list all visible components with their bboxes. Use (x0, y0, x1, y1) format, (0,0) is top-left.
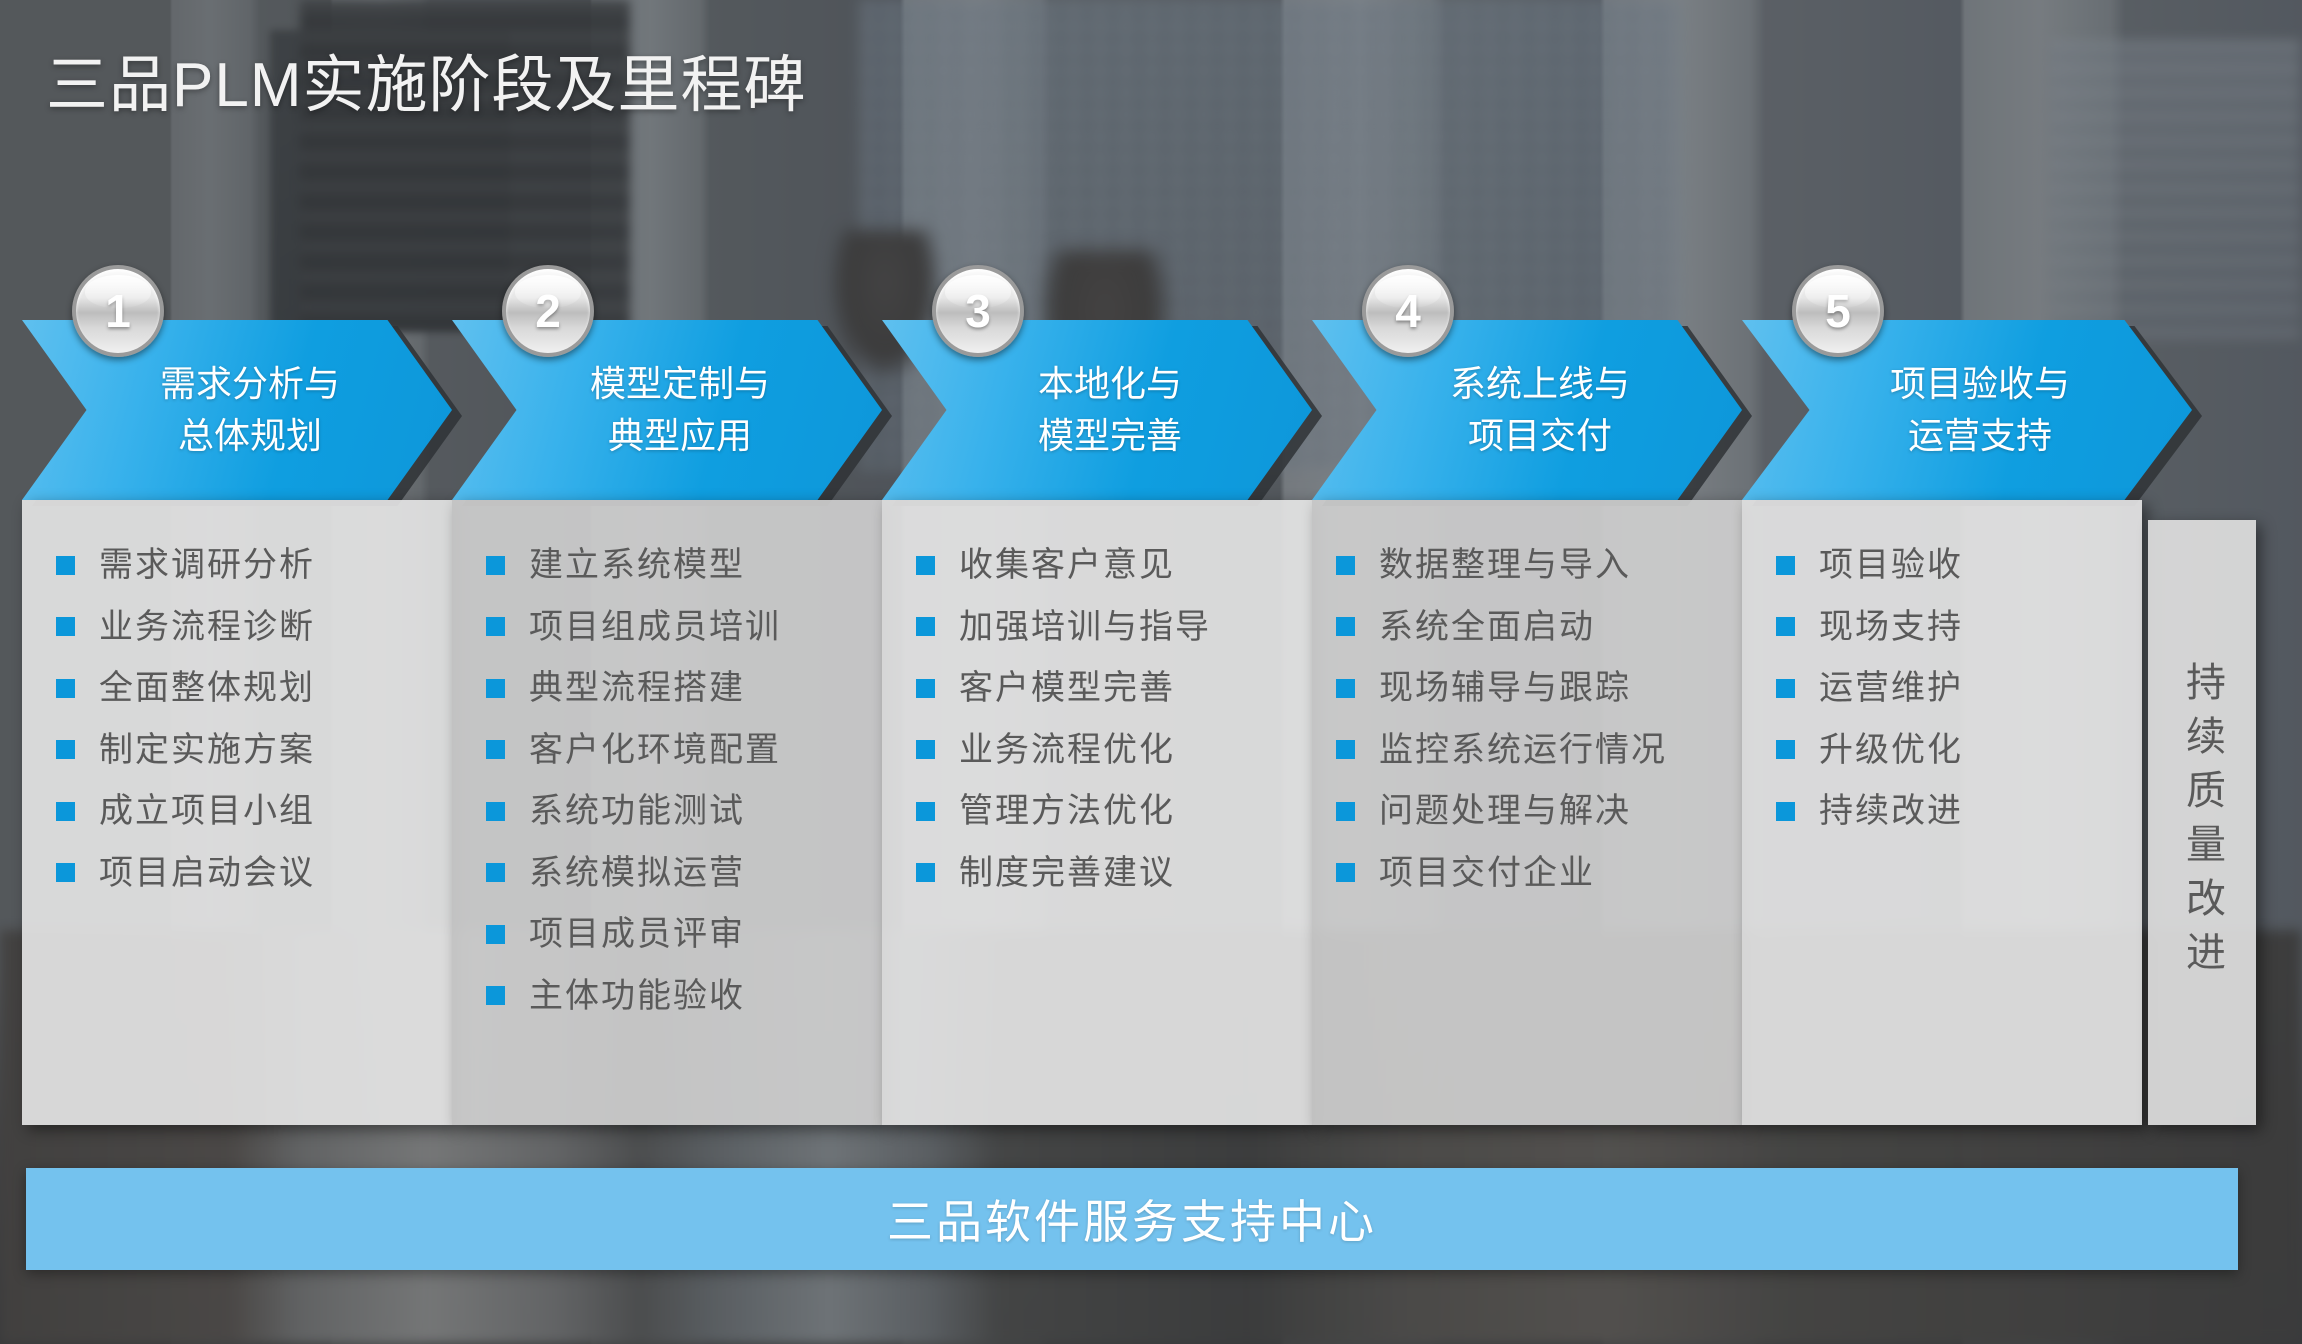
list-item[interactable]: 数据整理与导入 (1336, 544, 1732, 587)
list-item-label: 现场支持 (1819, 606, 1963, 649)
stage-panel-4: 数据整理与导入 系统全面启动 现场辅导与跟踪 监控系统运行情况 问题处理与解决 … (1312, 500, 1742, 1125)
stage-number-badge-4: 4 (1362, 265, 1454, 357)
list-item-label: 数据整理与导入 (1379, 544, 1631, 587)
bullet-square-icon (486, 802, 505, 821)
list-item-label: 持续改进 (1819, 790, 1963, 833)
list-item[interactable]: 系统模拟运营 (486, 852, 872, 895)
list-item[interactable]: 客户化环境配置 (486, 729, 872, 772)
list-item[interactable]: 成立项目小组 (56, 790, 442, 833)
stage-bullet-list-2: 建立系统模型 项目组成员培训 典型流程搭建 客户化环境配置 系统功能测试 系统模… (452, 544, 882, 1017)
list-item-label: 监控系统运行情况 (1379, 729, 1667, 772)
list-item[interactable]: 问题处理与解决 (1336, 790, 1732, 833)
stage-panel-1: 需求调研分析 业务流程诊断 全面整体规划 制定实施方案 成立项目小组 项目启动会… (22, 500, 452, 1125)
support-center-bar[interactable]: 三品软件服务支持中心 (26, 1168, 2238, 1270)
list-item-label: 项目启动会议 (99, 852, 315, 895)
list-item-label: 问题处理与解决 (1379, 790, 1631, 833)
list-item-label: 客户化环境配置 (529, 729, 781, 772)
list-item[interactable]: 业务流程诊断 (56, 606, 442, 649)
list-item-label: 运营维护 (1819, 667, 1963, 710)
bullet-square-icon (916, 679, 935, 698)
bullet-square-icon (1776, 556, 1795, 575)
page-title: 三品PLM实施阶段及里程碑 (46, 52, 806, 120)
stage-bullet-list-1: 需求调研分析 业务流程诊断 全面整体规划 制定实施方案 成立项目小组 项目启动会… (22, 544, 452, 894)
list-item[interactable]: 项目验收 (1776, 544, 2132, 587)
list-item-label: 管理方法优化 (959, 790, 1175, 833)
continuous-improvement-panel: 持续质量改进 (2148, 520, 2256, 1125)
list-item-label: 项目验收 (1819, 544, 1963, 587)
stage-number-badge-3: 3 (932, 265, 1024, 357)
list-item[interactable]: 运营维护 (1776, 667, 2132, 710)
list-item-label: 项目交付企业 (1379, 852, 1595, 895)
list-item[interactable]: 项目组成员培训 (486, 606, 872, 649)
stage-arrow-header-2[interactable]: 模型定制与 典型应用 2 (452, 320, 882, 500)
stage-number-badge-5: 5 (1792, 265, 1884, 357)
bullet-square-icon (486, 925, 505, 944)
list-item-label: 项目成员评审 (529, 913, 745, 956)
list-item-label: 制度完善建议 (959, 852, 1175, 895)
list-item-label: 系统全面启动 (1379, 606, 1595, 649)
list-item[interactable]: 项目成员评审 (486, 913, 872, 956)
list-item[interactable]: 典型流程搭建 (486, 667, 872, 710)
list-item[interactable]: 持续改进 (1776, 790, 2132, 833)
list-item[interactable]: 项目启动会议 (56, 852, 442, 895)
list-item[interactable]: 业务流程优化 (916, 729, 1302, 772)
bullet-square-icon (916, 740, 935, 759)
stage-column-2: 模型定制与 典型应用 2 建立系统模型 项目组成员培训 典型流程搭建 客户化环境… (452, 320, 882, 1125)
list-item-label: 项目组成员培训 (529, 606, 781, 649)
list-item-label: 制定实施方案 (99, 729, 315, 772)
arrow-shape (452, 320, 882, 500)
bullet-square-icon (1776, 740, 1795, 759)
list-item[interactable]: 制定实施方案 (56, 729, 442, 772)
stage-number-badge-1: 1 (72, 265, 164, 357)
stage-arrow-header-4[interactable]: 系统上线与 项目交付 4 (1312, 320, 1742, 500)
bullet-square-icon (56, 802, 75, 821)
stage-panel-5: 项目验收 现场支持 运营维护 升级优化 持续改进 (1742, 500, 2142, 1125)
list-item[interactable]: 系统全面启动 (1336, 606, 1732, 649)
list-item[interactable]: 制度完善建议 (916, 852, 1302, 895)
stage-column-3: 本地化与 模型完善 3 收集客户意见 加强培训与指导 客户模型完善 业务流程优化… (882, 320, 1312, 1125)
presentation-slide: 三品PLM实施阶段及里程碑 需求分析与 总体规划 1 需求调研分析 业务流程诊断… (0, 0, 2302, 1344)
list-item-label: 系统功能测试 (529, 790, 745, 833)
list-item[interactable]: 主体功能验收 (486, 975, 872, 1018)
bullet-square-icon (1336, 556, 1355, 575)
bullet-square-icon (916, 617, 935, 636)
list-item-label: 主体功能验收 (529, 975, 745, 1018)
list-item[interactable]: 系统功能测试 (486, 790, 872, 833)
bullet-square-icon (486, 986, 505, 1005)
arrow-shape (1312, 320, 1742, 500)
bullet-square-icon (486, 679, 505, 698)
stage-arrow-header-3[interactable]: 本地化与 模型完善 3 (882, 320, 1312, 500)
stage-bullet-list-3: 收集客户意见 加强培训与指导 客户模型完善 业务流程优化 管理方法优化 制度完善… (882, 544, 1312, 894)
bullet-square-icon (56, 863, 75, 882)
list-item-label: 加强培训与指导 (959, 606, 1211, 649)
stage-arrow-header-1[interactable]: 需求分析与 总体规划 1 (22, 320, 452, 500)
list-item-label: 成立项目小组 (99, 790, 315, 833)
arrow-shape (882, 320, 1312, 500)
list-item[interactable]: 收集客户意见 (916, 544, 1302, 587)
list-item-label: 系统模拟运营 (529, 852, 745, 895)
stage-column-5: 项目验收与 运营支持 5 项目验收 现场支持 运营维护 升级优化 持续改进 (1742, 320, 2192, 1125)
list-item-label: 升级优化 (1819, 729, 1963, 772)
list-item-label: 现场辅导与跟踪 (1379, 667, 1631, 710)
bullet-square-icon (916, 863, 935, 882)
bullet-square-icon (1776, 617, 1795, 636)
bullet-square-icon (916, 556, 935, 575)
bullet-square-icon (1336, 679, 1355, 698)
list-item[interactable]: 升级优化 (1776, 729, 2132, 772)
bullet-square-icon (1336, 740, 1355, 759)
stage-column-1: 需求分析与 总体规划 1 需求调研分析 业务流程诊断 全面整体规划 制定实施方案… (22, 320, 452, 1125)
support-center-label: 三品软件服务支持中心 (887, 1186, 1377, 1252)
bullet-square-icon (56, 740, 75, 759)
stage-bullet-list-4: 数据整理与导入 系统全面启动 现场辅导与跟踪 监控系统运行情况 问题处理与解决 … (1312, 544, 1742, 894)
list-item-label: 业务流程优化 (959, 729, 1175, 772)
arrow-shape (22, 320, 452, 500)
bullet-square-icon (1776, 679, 1795, 698)
bullet-square-icon (56, 556, 75, 575)
list-item[interactable]: 建立系统模型 (486, 544, 872, 587)
list-item-label: 全面整体规划 (99, 667, 315, 710)
list-item[interactable]: 全面整体规划 (56, 667, 442, 710)
bullet-square-icon (1336, 617, 1355, 636)
list-item[interactable]: 现场支持 (1776, 606, 2132, 649)
bullet-square-icon (1776, 802, 1795, 821)
stage-panel-3: 收集客户意见 加强培训与指导 客户模型完善 业务流程优化 管理方法优化 制度完善… (882, 500, 1312, 1125)
bullet-square-icon (56, 679, 75, 698)
bullet-square-icon (916, 802, 935, 821)
list-item[interactable]: 客户模型完善 (916, 667, 1302, 710)
list-item[interactable]: 需求调研分析 (56, 544, 442, 587)
stage-arrow-header-5[interactable]: 项目验收与 运营支持 5 (1742, 320, 2192, 500)
stage-panel-2: 建立系统模型 项目组成员培训 典型流程搭建 客户化环境配置 系统功能测试 系统模… (452, 500, 882, 1125)
list-item[interactable]: 监控系统运行情况 (1336, 729, 1732, 772)
list-item[interactable]: 项目交付企业 (1336, 852, 1732, 895)
list-item-label: 建立系统模型 (529, 544, 745, 587)
list-item[interactable]: 加强培训与指导 (916, 606, 1302, 649)
bullet-square-icon (486, 617, 505, 636)
bullet-square-icon (486, 556, 505, 575)
list-item-label: 典型流程搭建 (529, 667, 745, 710)
continuous-improvement-label: 持续质量改进 (2182, 661, 2222, 985)
bullet-square-icon (56, 617, 75, 636)
list-item[interactable]: 现场辅导与跟踪 (1336, 667, 1732, 710)
stage-number-badge-2: 2 (502, 265, 594, 357)
bullet-square-icon (1336, 863, 1355, 882)
list-item-label: 业务流程诊断 (99, 606, 315, 649)
list-item[interactable]: 管理方法优化 (916, 790, 1302, 833)
bullet-square-icon (486, 863, 505, 882)
stage-bullet-list-5: 项目验收 现场支持 运营维护 升级优化 持续改进 (1742, 544, 2142, 833)
list-item-label: 需求调研分析 (99, 544, 315, 587)
list-item-label: 收集客户意见 (959, 544, 1175, 587)
list-item-label: 客户模型完善 (959, 667, 1175, 710)
bullet-square-icon (1336, 802, 1355, 821)
stage-column-4: 系统上线与 项目交付 4 数据整理与导入 系统全面启动 现场辅导与跟踪 监控系统… (1312, 320, 1742, 1125)
bullet-square-icon (486, 740, 505, 759)
